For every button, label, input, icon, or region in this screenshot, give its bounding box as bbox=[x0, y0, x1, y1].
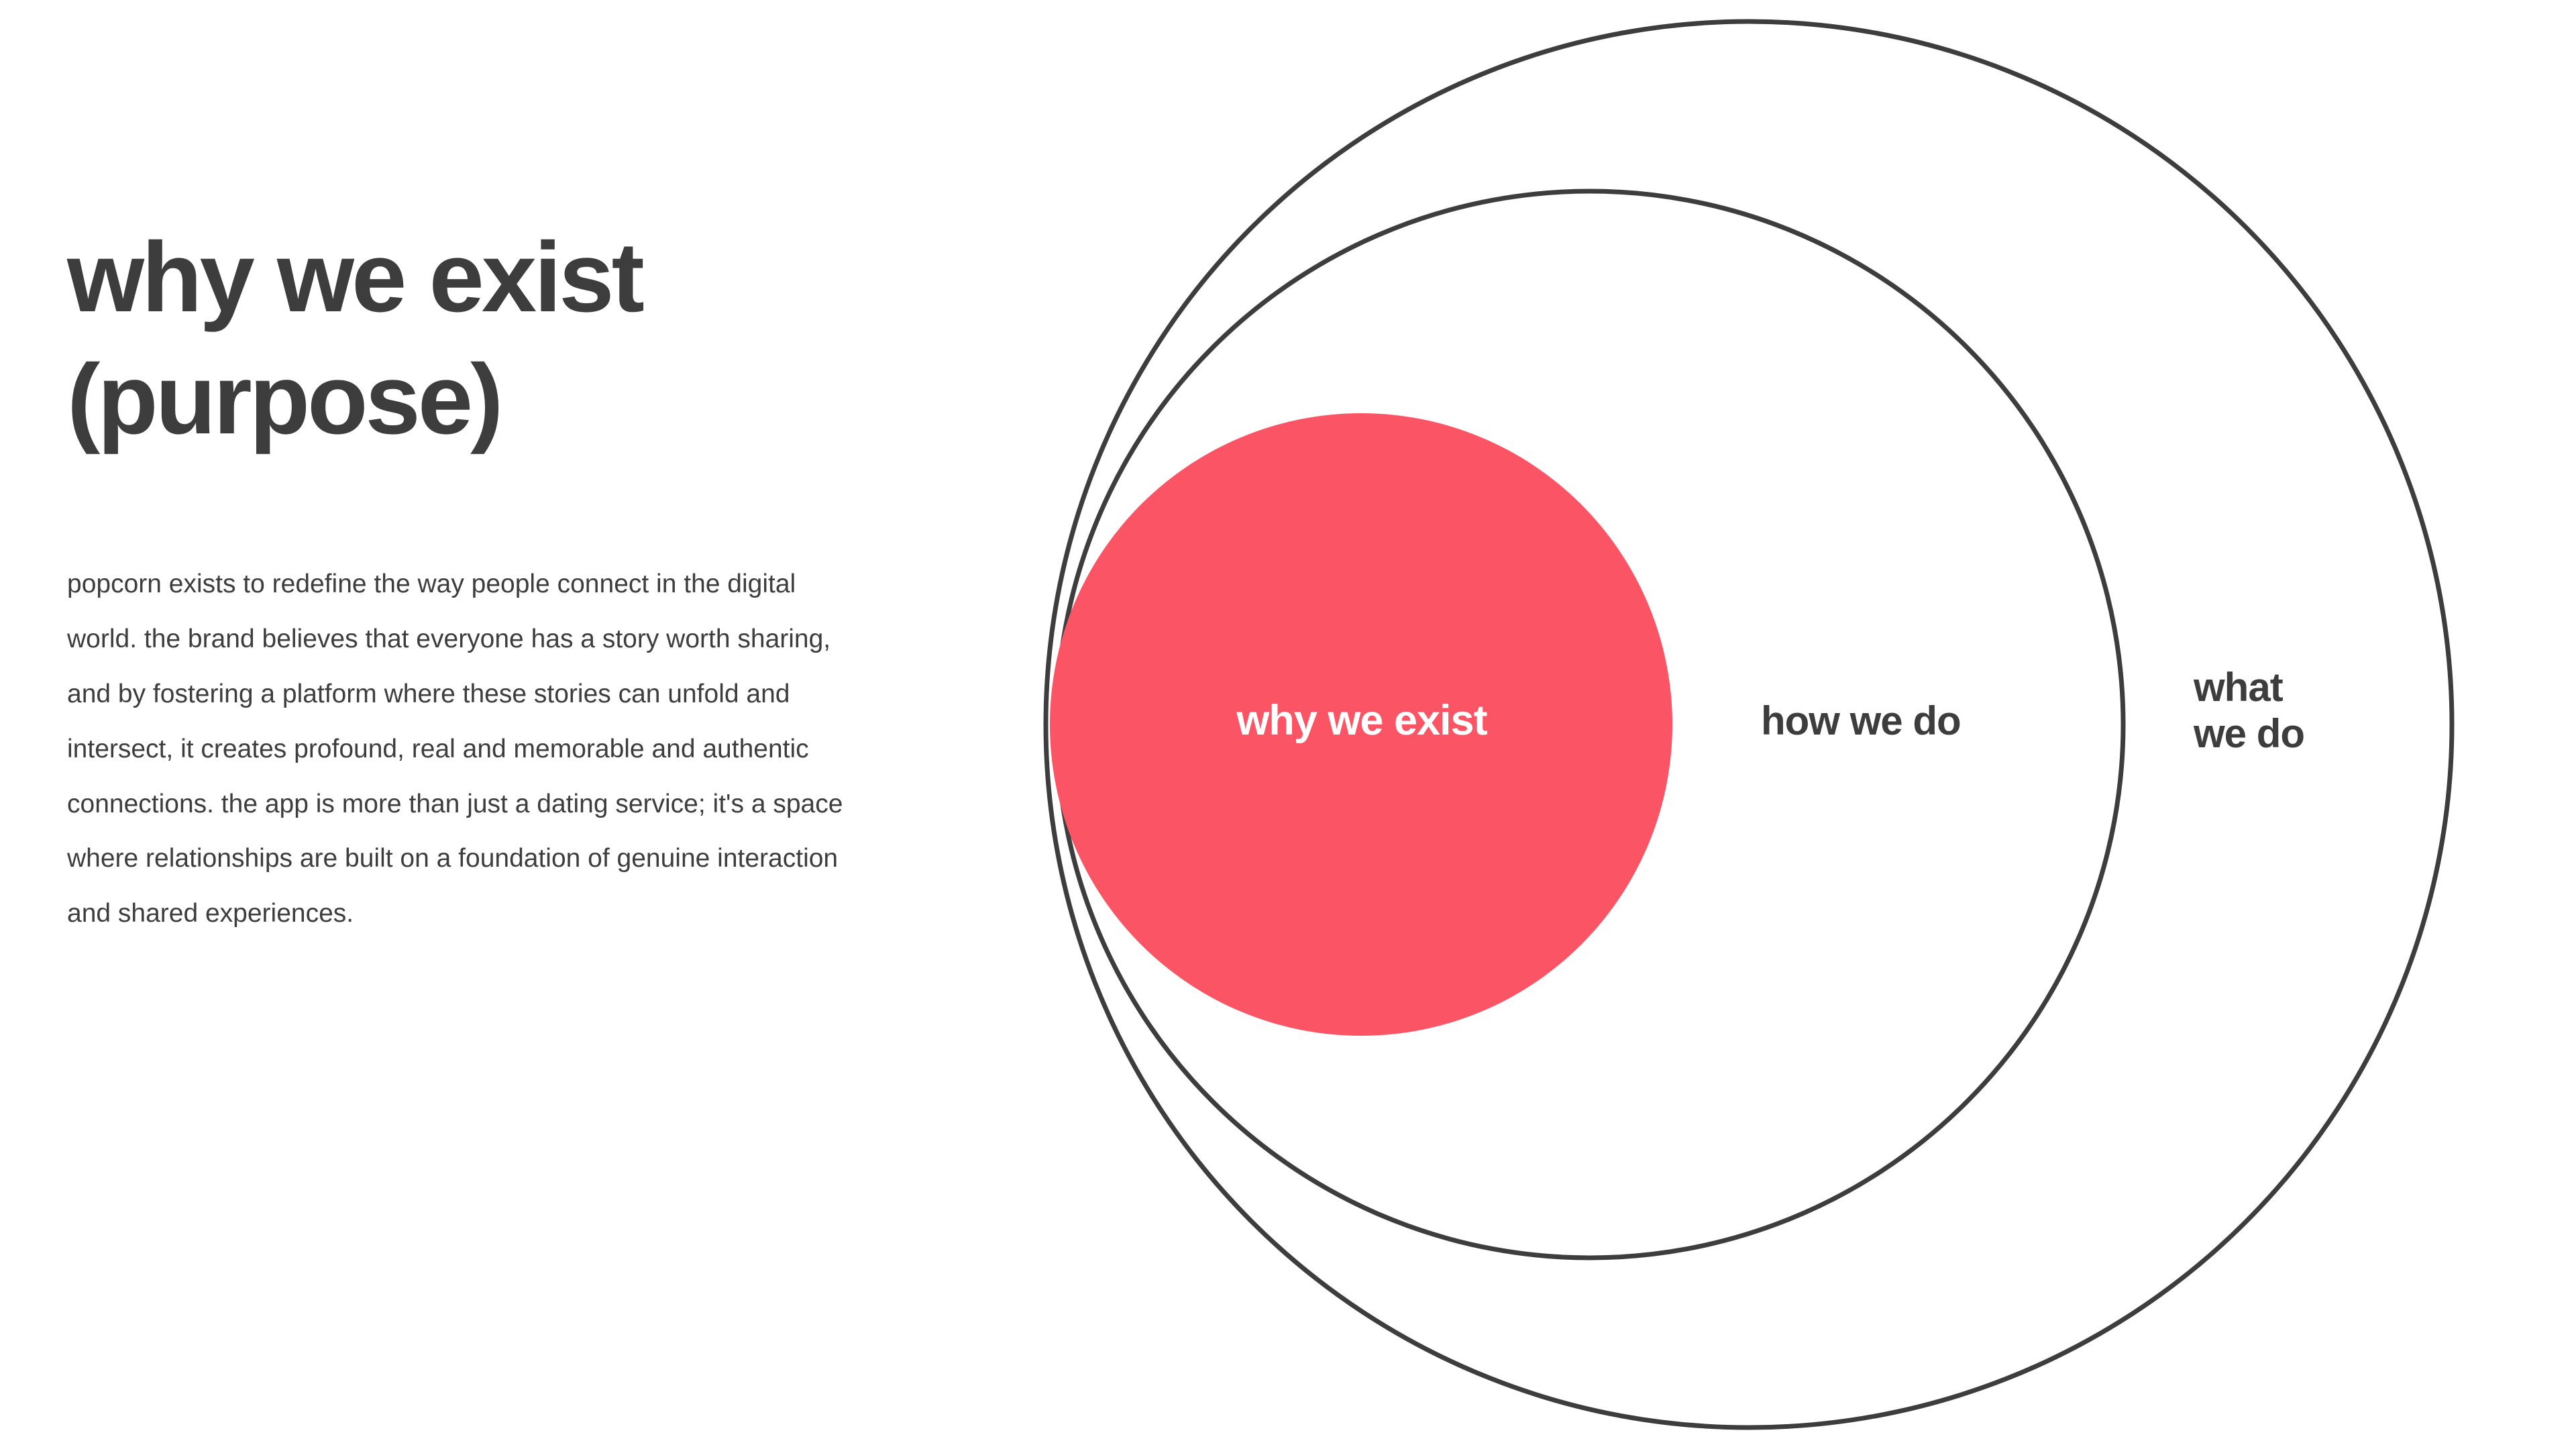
outer-circle-label-line-2: we do bbox=[2194, 710, 2415, 757]
purpose-description: popcorn exists to redefine the way peopl… bbox=[67, 557, 859, 941]
page-title: why we exist (purpose) bbox=[67, 228, 912, 449]
page-title-line-2: (purpose) bbox=[67, 350, 912, 449]
middle-circle-label: how we do bbox=[1761, 698, 1961, 744]
outer-circle-label: what we do bbox=[2194, 664, 2415, 757]
inner-circle-label: why we exist bbox=[1181, 696, 1543, 745]
slide-root: why we exist (purpose) popcorn exists to… bbox=[0, 0, 2576, 1449]
page-title-line-1: why we exist bbox=[67, 228, 912, 327]
left-text-column: why we exist (purpose) popcorn exists to… bbox=[67, 228, 912, 941]
outer-circle-label-line-1: what bbox=[2194, 664, 2415, 710]
